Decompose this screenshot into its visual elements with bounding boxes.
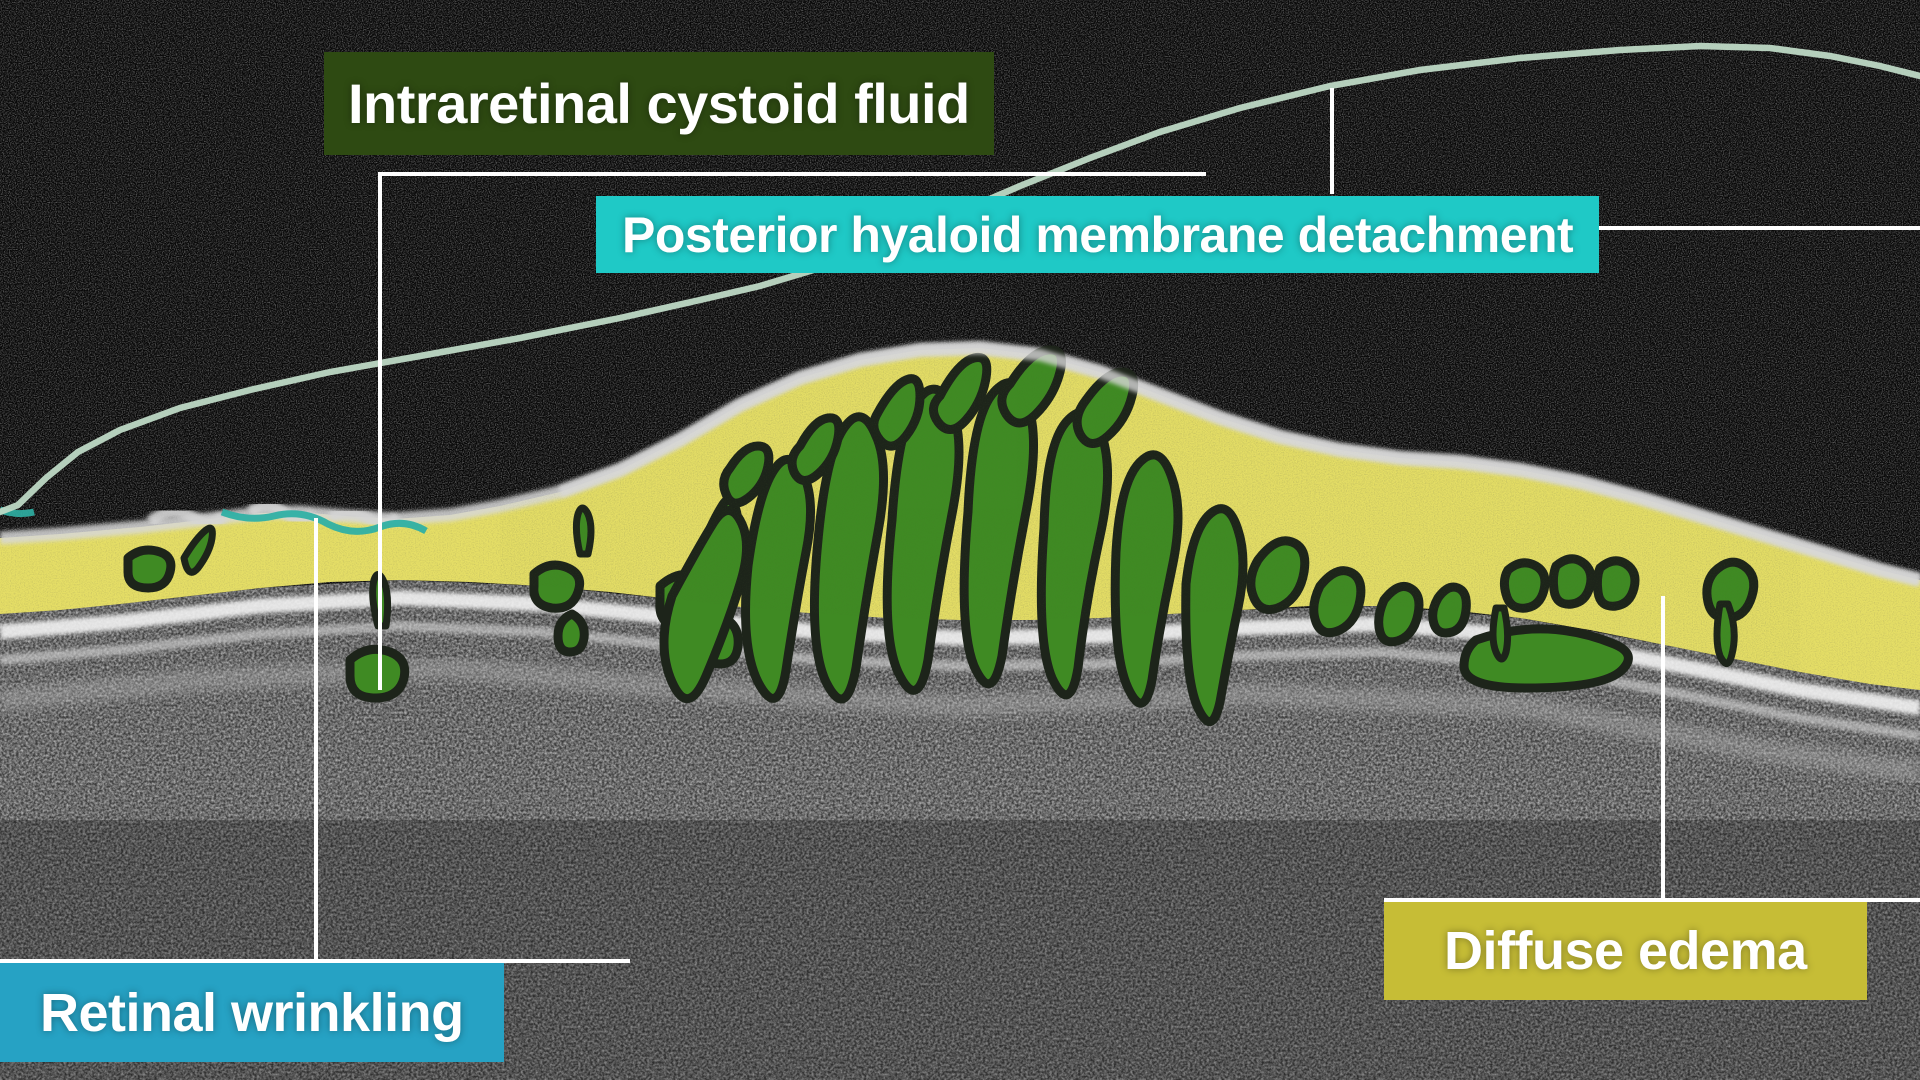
leader-hyaloid-vertical xyxy=(1330,88,1334,194)
oct-annotated-figure: Intraretinal cystoid fluid Posterior hya… xyxy=(0,0,1920,1080)
annotation-label-intraretinal-cystoid-fluid[interactable]: Intraretinal cystoid fluid xyxy=(324,52,994,155)
leader-edema-vertical xyxy=(1661,596,1665,902)
annotation-label-text: Diffuse edema xyxy=(1444,920,1807,982)
annotation-label-posterior-hyaloid-membrane-detachment[interactable]: Posterior hyaloid membrane detachment xyxy=(596,196,1599,273)
leader-cystoid-vertical xyxy=(378,172,382,690)
annotation-label-retinal-wrinkling[interactable]: Retinal wrinkling xyxy=(0,963,504,1062)
annotation-label-text: Retinal wrinkling xyxy=(40,982,464,1044)
annotation-label-diffuse-edema[interactable]: Diffuse edema xyxy=(1384,902,1867,1000)
annotation-label-text: Posterior hyaloid membrane detachment xyxy=(622,206,1573,264)
annotation-label-text: Intraretinal cystoid fluid xyxy=(348,71,970,136)
leader-wrinkling-vertical xyxy=(314,518,318,963)
leader-cystoid-horizontal xyxy=(378,172,1206,176)
